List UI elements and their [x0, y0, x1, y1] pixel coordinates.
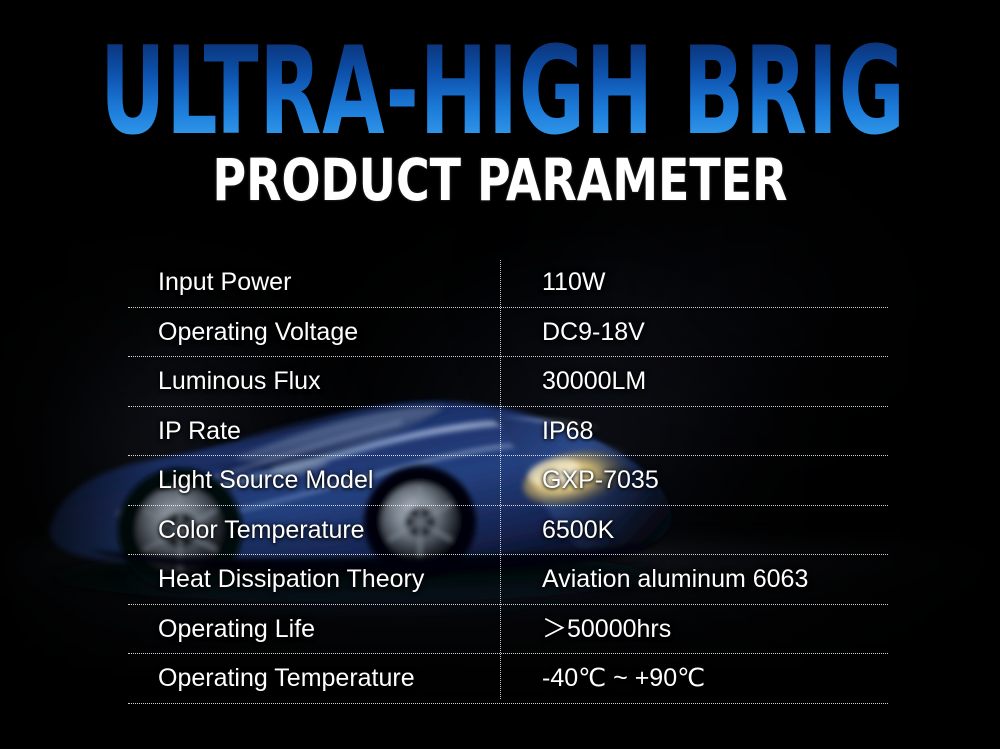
spec-label: IP Rate — [128, 416, 500, 446]
page-subtitle: PRODUCT PARAMETER — [60, 152, 940, 208]
spec-label: Luminous Flux — [128, 366, 500, 396]
table-row: Operating Temperature -40℃ ~ +90℃ — [128, 654, 888, 704]
spec-label: Operating Life — [128, 614, 500, 644]
spec-label: Operating Temperature — [128, 663, 500, 693]
spec-value: -40℃ ~ +90℃ — [500, 663, 705, 693]
table-row: Color Temperature 6500K — [128, 506, 888, 556]
spec-value: Aviation aluminum 6063 — [500, 564, 808, 594]
spec-label: Color Temperature — [128, 515, 500, 545]
table-row: IP Rate IP68 — [128, 407, 888, 457]
table-row: Input Power 110W — [128, 258, 888, 308]
spec-value: ＞50000hrs — [500, 614, 671, 644]
table-row: Operating Voltage DC9-18V — [128, 308, 888, 358]
spec-value: DC9-18V — [500, 317, 645, 347]
product-parameter-table: Input Power 110W Operating Voltage DC9-1… — [128, 258, 888, 704]
page-title: ULTRA-HIGH BRIGHTNESS — [100, 36, 900, 148]
table-row: Light Source Model GXP-7035 — [128, 456, 888, 506]
spec-value: 6500K — [500, 515, 614, 545]
table-row: Heat Dissipation Theory Aviation aluminu… — [128, 555, 888, 605]
table-row: Operating Life ＞50000hrs — [128, 605, 888, 655]
table-row: Luminous Flux 30000LM — [128, 357, 888, 407]
spec-value: IP68 — [500, 416, 593, 446]
spec-label: Input Power — [128, 267, 500, 297]
spec-label: Heat Dissipation Theory — [128, 564, 500, 594]
spec-label: Operating Voltage — [128, 317, 500, 347]
spec-label: Light Source Model — [128, 465, 500, 495]
spec-value: GXP-7035 — [500, 465, 659, 495]
spec-value: 110W — [500, 267, 605, 297]
spec-value: 30000LM — [500, 366, 646, 396]
